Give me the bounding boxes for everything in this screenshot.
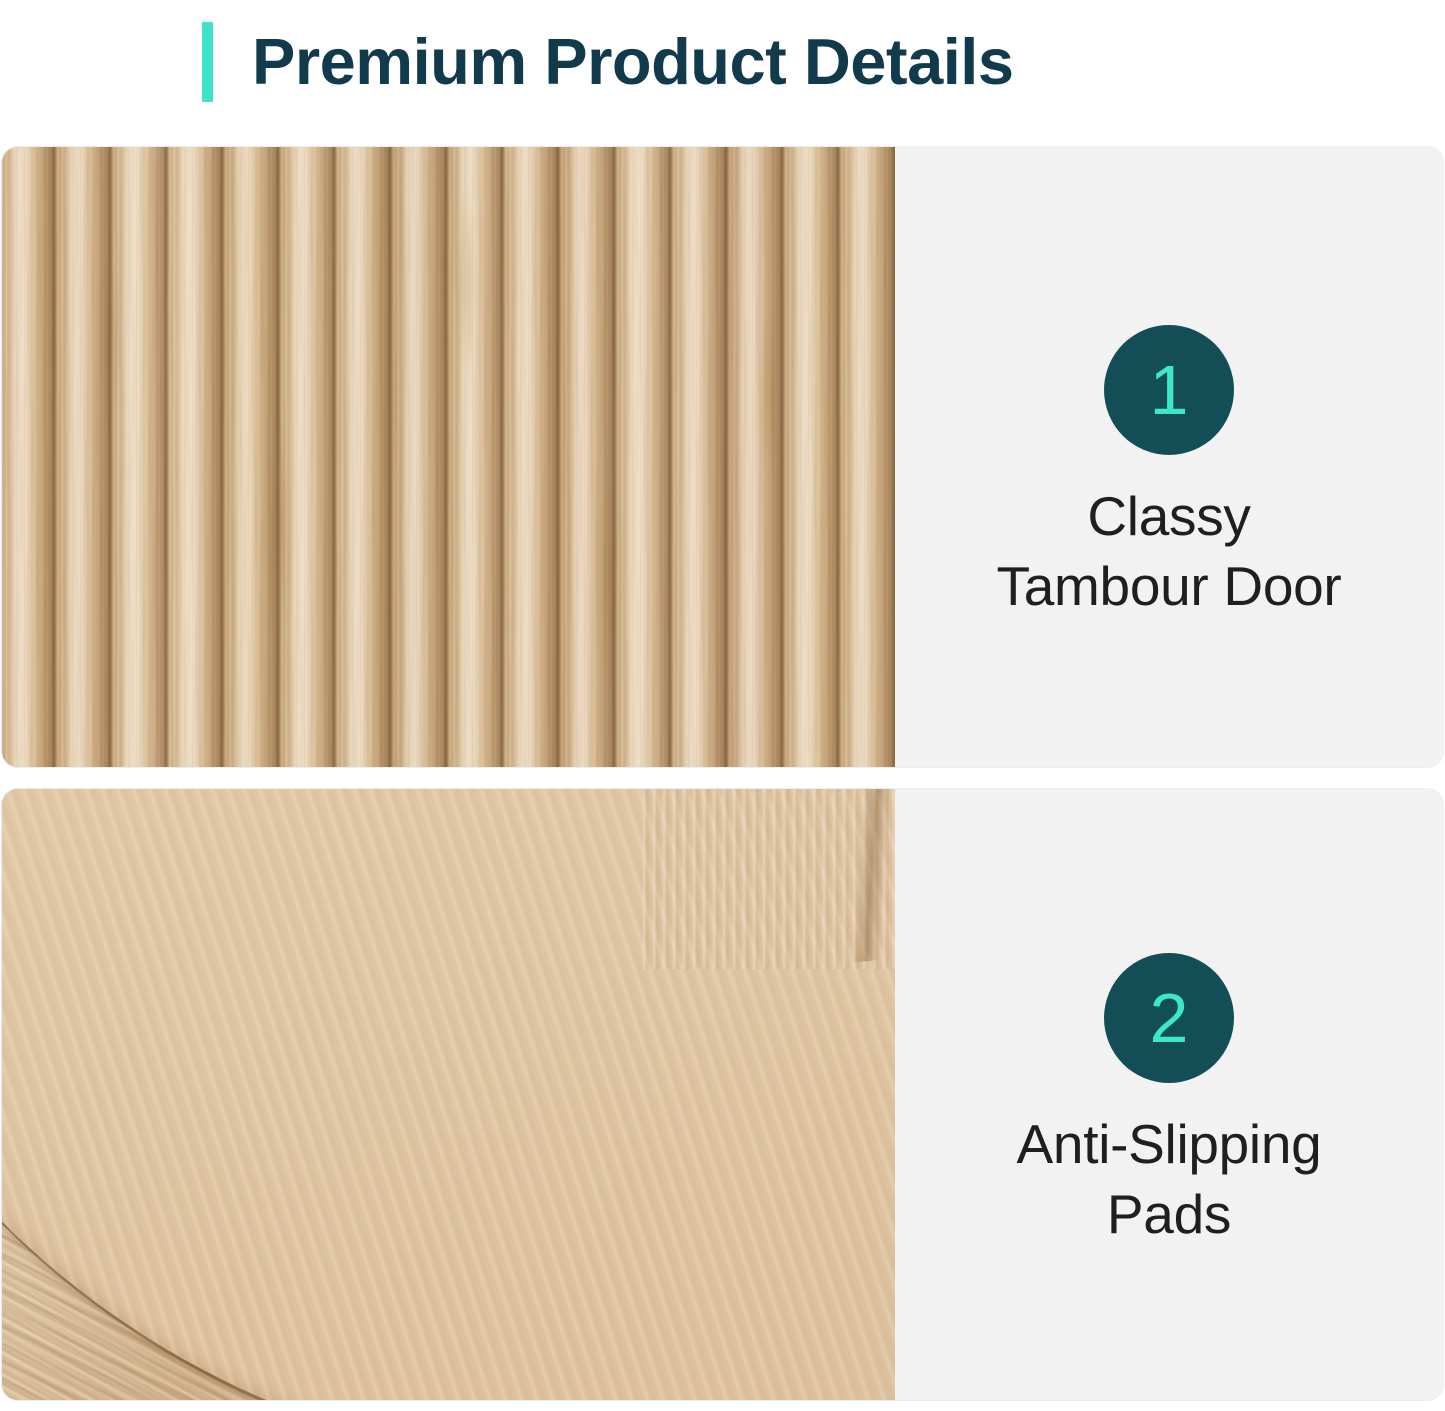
product-photo-anti-slip-pad	[2, 789, 895, 1400]
step-badge-2: 2	[1104, 953, 1234, 1083]
feature-panel-2: 2 Anti-Slipping Pads	[895, 789, 1443, 1400]
feature-caption-2-line-1: Anti-Slipping	[895, 1109, 1443, 1179]
panel-joint-seam	[751, 789, 895, 971]
feature-card-1: 1 Classy Tambour Door	[2, 147, 1443, 767]
page-title: Premium Product Details	[252, 16, 1014, 108]
product-photo-tambour-door	[2, 147, 895, 767]
feature-content-2: 2 Anti-Slipping Pads	[895, 953, 1443, 1249]
feature-caption-2-line-2: Pads	[895, 1179, 1443, 1249]
page-header: Premium Product Details	[0, 0, 1445, 140]
feature-caption-1: Classy Tambour Door	[895, 481, 1443, 621]
step-number-2: 2	[1150, 983, 1189, 1053]
title-accent-bar	[202, 22, 213, 102]
step-badge-1: 1	[1104, 325, 1234, 455]
feature-caption-1-line-2: Tambour Door	[895, 551, 1443, 621]
feature-caption-1-line-1: Classy	[895, 481, 1443, 551]
feature-panel-1: 1 Classy Tambour Door	[895, 147, 1443, 767]
feature-caption-2: Anti-Slipping Pads	[895, 1109, 1443, 1249]
feature-content-1: 1 Classy Tambour Door	[895, 325, 1443, 621]
step-number-1: 1	[1150, 355, 1189, 425]
wood-tone-variation-overlay	[2, 147, 895, 767]
feature-card-2: 2 Anti-Slipping Pads	[2, 789, 1443, 1400]
